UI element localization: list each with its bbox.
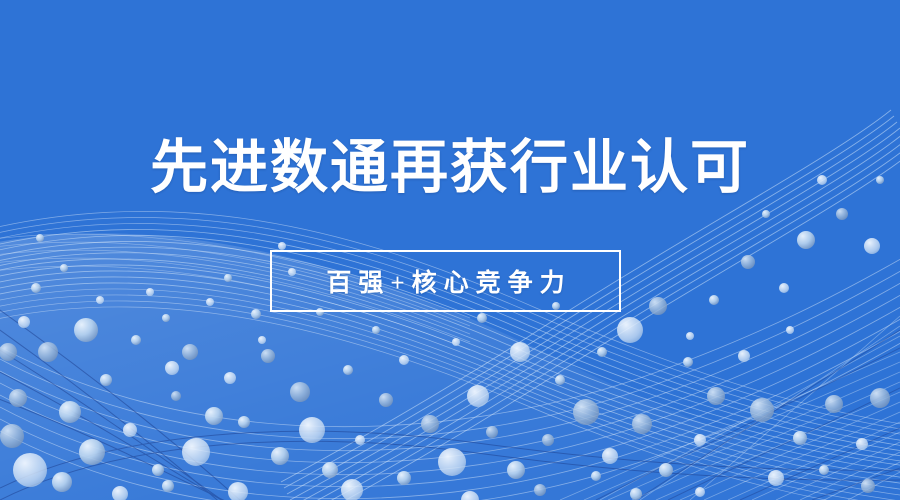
promo-banner: 先进数通再获行业认可 百强+核心竞争力 <box>0 0 900 500</box>
decorative-background <box>0 0 900 500</box>
